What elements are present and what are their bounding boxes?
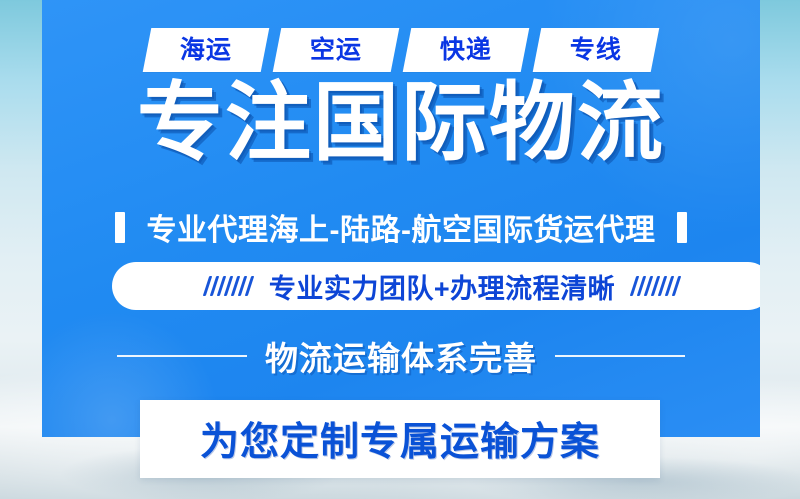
- subtitle-row: 专业代理海上-陆路-航空国际货运代理: [42, 205, 760, 249]
- blue-content-panel: 海运 空运 快递 专线 专注国际物流 专业代理海上-陆路-航空国际货运代理 专业…: [42, 0, 760, 437]
- left-tick-marks-icon: [206, 276, 251, 296]
- service-tag-label: 海运: [180, 38, 232, 63]
- left-rule-line-icon: [117, 355, 247, 357]
- left-bar-marker-icon: [115, 212, 125, 243]
- service-tag[interactable]: 空运: [273, 28, 400, 72]
- bottom-cta-banner[interactable]: 为您定制专属运输方案: [140, 400, 660, 478]
- rule-headline-row: 物流运输体系完善: [98, 332, 704, 380]
- poster-canvas: 海运 空运 快递 专线 专注国际物流 专业代理海上-陆路-航空国际货运代理 专业…: [0, 0, 800, 499]
- rule-headline-text: 物流运输体系完善: [265, 332, 537, 380]
- hero-title: 专注国际物流: [42, 78, 760, 168]
- subtitle-text: 专业代理海上-陆路-航空国际货运代理: [147, 205, 656, 249]
- right-tick-marks-icon: [633, 276, 678, 296]
- service-tag-row: 海运 空运 快递 专线: [42, 28, 760, 72]
- service-tag[interactable]: 快递: [403, 28, 530, 72]
- service-tag-label: 快递: [440, 38, 492, 63]
- bottom-cta-text: 为您定制专属运输方案: [200, 411, 600, 467]
- right-bar-marker-icon: [677, 212, 687, 243]
- service-tag[interactable]: 海运: [143, 28, 270, 72]
- pill-text: 专业实力团队+办理流程清晰: [269, 267, 615, 306]
- right-rule-line-icon: [555, 355, 685, 357]
- service-tag[interactable]: 专线: [533, 28, 660, 72]
- service-tag-label: 专线: [570, 38, 622, 63]
- highlight-pill: 专业实力团队+办理流程清晰: [112, 262, 760, 310]
- service-tag-label: 空运: [310, 38, 362, 63]
